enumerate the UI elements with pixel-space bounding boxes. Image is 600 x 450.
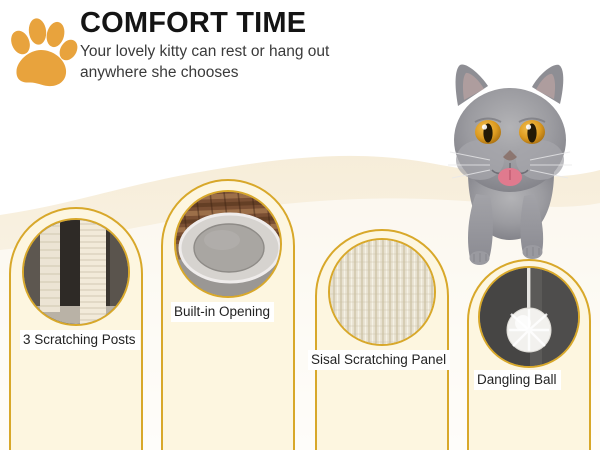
callout-label: Dangling Ball bbox=[474, 370, 561, 390]
subtitle-line-1: Your lovely kitty can rest or hang out bbox=[80, 42, 500, 63]
page-title: COMFORT TIME bbox=[80, 8, 500, 38]
header-text-block: COMFORT TIME Your lovely kitty can rest … bbox=[80, 8, 500, 84]
dangling-ball-photo bbox=[478, 266, 580, 368]
callout-label: Built-in Opening bbox=[171, 302, 274, 322]
callout-label: 3 Scratching Posts bbox=[20, 330, 140, 350]
infographic-canvas: COMFORT TIME Your lovely kitty can rest … bbox=[0, 0, 600, 450]
sisal-panel-photo bbox=[328, 238, 436, 346]
header: COMFORT TIME Your lovely kitty can rest … bbox=[0, 0, 600, 108]
built-in-opening-photo bbox=[174, 190, 282, 298]
scratching-post-photo bbox=[22, 218, 130, 326]
callout-scratching-posts[interactable]: 3 Scratching Posts bbox=[4, 196, 148, 450]
callout-label: Sisal Scratching Panel bbox=[308, 350, 450, 370]
paw-print-icon bbox=[8, 14, 78, 92]
callout-built-in-opening[interactable]: Built-in Opening bbox=[156, 168, 300, 450]
subtitle-line-2: anywhere she chooses bbox=[80, 63, 500, 84]
callout-dangling-ball[interactable]: Dangling Ball bbox=[462, 248, 596, 450]
